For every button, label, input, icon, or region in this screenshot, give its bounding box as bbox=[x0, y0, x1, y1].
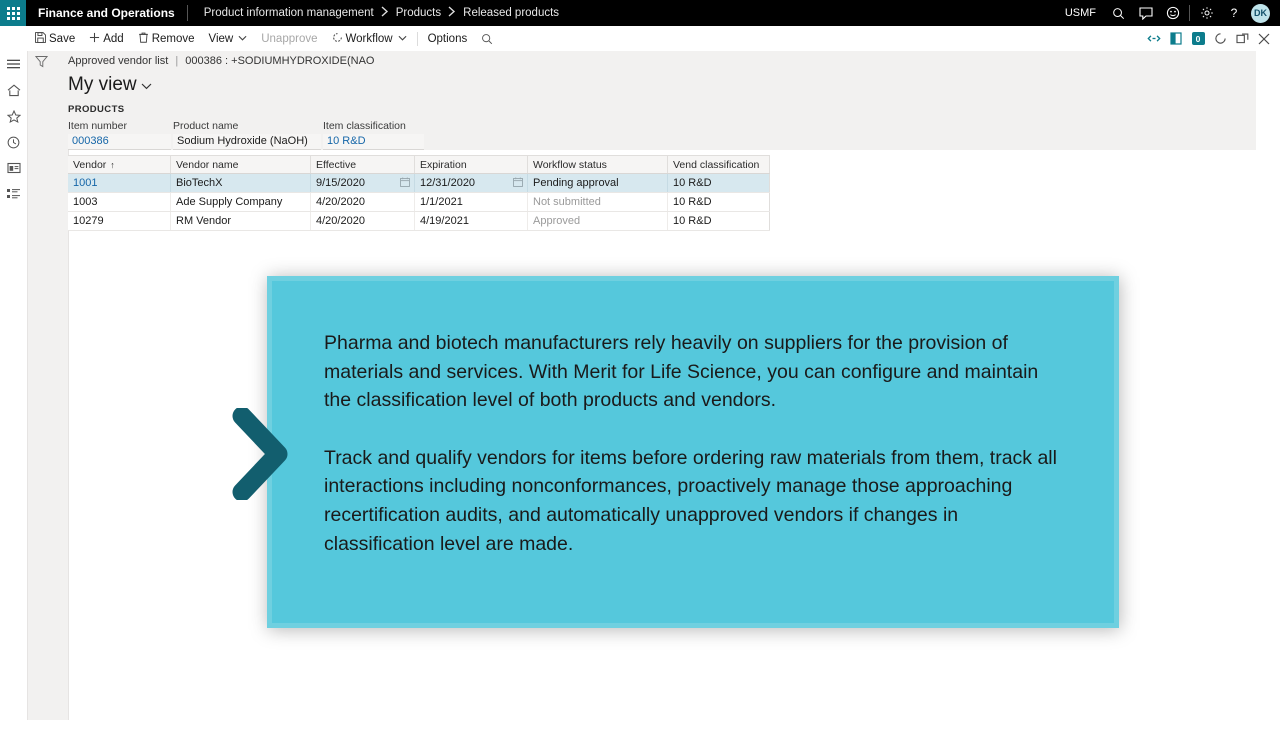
cell-workflow-status[interactable]: Not submitted bbox=[528, 193, 668, 211]
top-bar-right-cluster: USMF ? DK bbox=[1056, 0, 1280, 26]
app-launcher-waffle-icon[interactable] bbox=[0, 0, 26, 26]
filter-icon[interactable] bbox=[35, 55, 48, 68]
page-title: My view bbox=[68, 74, 137, 96]
chevron-down-icon-workflow bbox=[398, 34, 407, 43]
view-menu[interactable]: View bbox=[202, 26, 255, 51]
topbar-divider bbox=[1189, 5, 1190, 21]
cell-expiration[interactable]: 4/19/2021 bbox=[415, 212, 528, 230]
avatar[interactable]: DK bbox=[1251, 4, 1270, 23]
trash-icon bbox=[138, 32, 149, 46]
form-caption: Approved vendor list | 000386 : +SODIUMH… bbox=[68, 55, 374, 67]
form-caption-separator: | bbox=[171, 55, 182, 67]
table-row[interactable]: 1001 BioTechX 9/15/2020 12/31/2020 Pendi… bbox=[68, 174, 770, 193]
remove-button[interactable]: Remove bbox=[131, 26, 202, 51]
cell-effective[interactable]: 4/20/2020 bbox=[311, 212, 415, 230]
callout-panel: Pharma and biotech manufacturers rely he… bbox=[267, 276, 1119, 628]
cell-vendor[interactable]: 1003 bbox=[68, 193, 171, 211]
left-navigation-rail bbox=[0, 26, 27, 745]
field-item-classification: Item classification 10 R&D bbox=[323, 120, 424, 150]
plus-icon bbox=[89, 32, 100, 46]
view-selector[interactable]: My view bbox=[68, 74, 152, 96]
action-bar-divider bbox=[417, 32, 418, 46]
calendar-icon[interactable] bbox=[400, 177, 410, 190]
remove-label: Remove bbox=[152, 33, 195, 45]
modules-list-icon[interactable] bbox=[0, 181, 27, 207]
page-left-strip bbox=[27, 150, 69, 720]
breadcrumb-item-products[interactable]: Products bbox=[396, 7, 441, 19]
table-row[interactable]: 10279 RM Vendor 4/20/2020 4/19/2021 Appr… bbox=[68, 212, 770, 231]
form-caption-title: Approved vendor list bbox=[68, 55, 168, 67]
table-row[interactable]: 1003 Ade Supply Company 4/20/2020 1/1/20… bbox=[68, 193, 770, 212]
brand-title[interactable]: Finance and Operations bbox=[26, 0, 187, 26]
column-header-vendor-label: Vendor bbox=[73, 159, 106, 171]
cell-effective[interactable]: 9/15/2020 bbox=[311, 174, 415, 192]
svg-text:?: ? bbox=[1230, 6, 1237, 20]
action-bar: Save Add Remove View Unapprove bbox=[0, 26, 1280, 52]
sort-ascending-icon: ↑ bbox=[110, 160, 115, 170]
save-icon bbox=[35, 32, 46, 46]
field-product-name-value[interactable]: Sodium Hydroxide (NaOH) bbox=[173, 134, 321, 150]
callout-paragraph-1: Pharma and biotech manufacturers rely he… bbox=[324, 329, 1068, 415]
column-header-workflow-status[interactable]: Workflow status bbox=[528, 156, 668, 173]
product-fields: Item number 000386 Product name Sodium H… bbox=[68, 120, 424, 150]
breadcrumb-item-released-products[interactable]: Released products bbox=[463, 7, 559, 19]
rail-hamburger-icon[interactable] bbox=[0, 51, 27, 77]
section-header-products: PRODUCTS bbox=[68, 104, 125, 115]
chevron-down-icon bbox=[238, 34, 247, 43]
notifications-icon[interactable]: 0 bbox=[1188, 26, 1208, 51]
workflow-label: Workflow bbox=[346, 33, 393, 45]
cell-expiration[interactable]: 12/31/2020 bbox=[415, 174, 528, 192]
notification-count-badge: 0 bbox=[1192, 32, 1205, 45]
rail-divider bbox=[27, 51, 28, 720]
field-product-name: Product name Sodium Hydroxide (NaOH) bbox=[173, 120, 321, 150]
cell-expiration[interactable]: 1/1/2021 bbox=[415, 193, 528, 211]
column-header-expiration[interactable]: Expiration bbox=[415, 156, 528, 173]
field-item-classification-label: Item classification bbox=[323, 120, 424, 132]
field-item-number-label: Item number bbox=[68, 120, 171, 132]
cell-vend-classification[interactable]: 10 R&D bbox=[668, 174, 770, 192]
app-window: Finance and Operations Product informati… bbox=[0, 0, 1280, 720]
save-button[interactable]: Save bbox=[28, 26, 82, 51]
search-icon[interactable] bbox=[1105, 0, 1132, 26]
feedback-icon[interactable] bbox=[1132, 0, 1159, 26]
cell-vendor[interactable]: 1001 bbox=[68, 174, 171, 192]
field-item-classification-value[interactable]: 10 R&D bbox=[323, 134, 424, 150]
callout-paragraph-2: Track and qualify vendors for items befo… bbox=[324, 444, 1068, 558]
cell-vendor-name[interactable]: BioTechX bbox=[171, 174, 311, 192]
smiley-icon[interactable] bbox=[1159, 0, 1186, 26]
page-right-gutter bbox=[1256, 51, 1280, 720]
cell-vend-classification[interactable]: 10 R&D bbox=[668, 212, 770, 230]
field-item-number-value[interactable]: 000386 bbox=[68, 134, 171, 150]
popout-icon[interactable] bbox=[1232, 26, 1252, 51]
cell-effective[interactable]: 4/20/2020 bbox=[311, 193, 415, 211]
grid-header-row: Vendor ↑ Vendor name Effective Expiratio… bbox=[68, 155, 770, 174]
cell-vendor-name[interactable]: Ade Supply Company bbox=[171, 193, 311, 211]
cell-vend-classification[interactable]: 10 R&D bbox=[668, 193, 770, 211]
breadcrumb: Product information management Products … bbox=[188, 6, 559, 20]
close-icon[interactable] bbox=[1254, 26, 1274, 51]
column-header-vendor[interactable]: Vendor ↑ bbox=[68, 156, 171, 173]
breadcrumb-item-module[interactable]: Product information management bbox=[204, 7, 374, 19]
column-header-vend-classification[interactable]: Vend classification bbox=[668, 156, 770, 173]
view-label: View bbox=[209, 33, 234, 45]
chevron-right-icon bbox=[232, 408, 290, 500]
add-label: Add bbox=[103, 33, 123, 45]
favorites-star-icon[interactable] bbox=[0, 103, 27, 129]
save-label: Save bbox=[49, 33, 75, 45]
chevron-down-icon-view bbox=[141, 82, 152, 93]
column-header-effective[interactable]: Effective bbox=[311, 156, 415, 173]
field-item-number: Item number 000386 bbox=[68, 120, 171, 150]
cell-effective-value: 9/15/2020 bbox=[316, 177, 365, 189]
cell-workflow-status[interactable]: Pending approval bbox=[528, 174, 668, 192]
unapprove-button[interactable]: Unapprove bbox=[254, 26, 324, 51]
attach-link-icon[interactable] bbox=[1144, 26, 1164, 51]
field-product-name-label: Product name bbox=[173, 120, 321, 132]
add-button[interactable]: Add bbox=[82, 26, 130, 51]
breadcrumb-chevron-right-icon-2 bbox=[448, 6, 456, 20]
gear-icon[interactable] bbox=[1193, 0, 1220, 26]
breadcrumb-chevron-right-icon bbox=[381, 6, 389, 20]
action-bar-right-cluster: 0 bbox=[1144, 26, 1280, 51]
approved-vendor-grid: Vendor ↑ Vendor name Effective Expiratio… bbox=[68, 155, 770, 231]
unapprove-label: Unapprove bbox=[261, 33, 317, 45]
top-navigation-bar: Finance and Operations Product informati… bbox=[0, 0, 1280, 26]
legal-entity-selector[interactable]: USMF bbox=[1056, 7, 1105, 19]
options-label: Options bbox=[428, 33, 468, 45]
form-caption-record: 000386 : +SODIUMHYDROXIDE(NAO bbox=[185, 55, 374, 67]
calendar-icon-expiration[interactable] bbox=[513, 177, 523, 190]
recent-clock-icon[interactable] bbox=[0, 129, 27, 155]
column-header-vendor-name[interactable]: Vendor name bbox=[171, 156, 311, 173]
callout-inner: Pharma and biotech manufacturers rely he… bbox=[272, 281, 1114, 623]
options-menu[interactable]: Options bbox=[421, 26, 475, 51]
cell-expiration-value: 12/31/2020 bbox=[420, 177, 475, 189]
workflow-icon bbox=[332, 32, 343, 46]
home-icon[interactable] bbox=[0, 77, 27, 103]
workspaces-icon[interactable] bbox=[0, 155, 27, 181]
page-options-icon[interactable] bbox=[1166, 26, 1186, 51]
action-search-icon[interactable] bbox=[474, 26, 500, 51]
help-icon[interactable]: ? bbox=[1220, 0, 1247, 26]
workflow-menu[interactable]: Workflow bbox=[325, 26, 414, 51]
refresh-icon[interactable] bbox=[1210, 26, 1230, 51]
cell-workflow-status[interactable]: Approved bbox=[528, 212, 668, 230]
cell-vendor[interactable]: 10279 bbox=[68, 212, 171, 230]
cell-vendor-name[interactable]: RM Vendor bbox=[171, 212, 311, 230]
